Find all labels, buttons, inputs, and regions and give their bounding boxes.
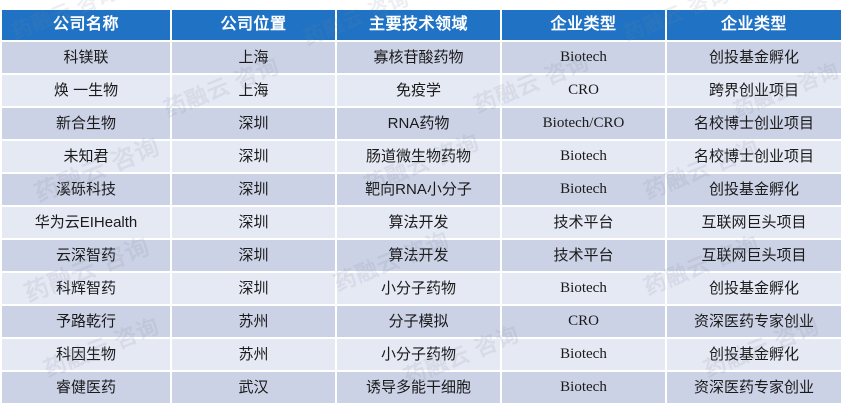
cell-location: 武汉 [172, 372, 335, 403]
cell-location: 深圳 [172, 174, 335, 205]
cell-venture-type: 互联网巨头项目 [667, 207, 841, 238]
cell-company-name: 科镁联 [2, 42, 170, 73]
cell-venture-type: 创投基金孵化 [667, 339, 841, 370]
cell-location: 上海 [172, 75, 335, 106]
cell-tech-field: 靶向RNA小分子 [337, 174, 500, 205]
table-row[interactable]: 未知君深圳肠道微生物药物Biotech名校博士创业项目 [2, 141, 841, 172]
column-header-tech-field[interactable]: 主要技术领域 [337, 10, 500, 40]
cell-company-name: 科辉智药 [2, 273, 170, 304]
column-header-venture-type[interactable]: 企业类型 [667, 10, 841, 40]
cell-company-type: Biotech [502, 141, 665, 172]
table-row[interactable]: 睿健医药武汉诱导多能干细胞Biotech资深医药专家创业 [2, 372, 841, 403]
cell-location: 苏州 [172, 306, 335, 337]
table-header: 公司名称 公司位置 主要技术领域 企业类型 企业类型 [2, 10, 841, 40]
table-row[interactable]: 科镁联上海寡核苷酸药物Biotech创投基金孵化 [2, 42, 841, 73]
cell-company-name: 新合生物 [2, 108, 170, 139]
column-header-company-name[interactable]: 公司名称 [2, 10, 170, 40]
cell-company-type: Biotech/CRO [502, 108, 665, 139]
cell-location: 深圳 [172, 207, 335, 238]
cell-tech-field: 寡核苷酸药物 [337, 42, 500, 73]
cell-company-name: 焕 一生物 [2, 75, 170, 106]
cell-company-type: Biotech [502, 174, 665, 205]
cell-tech-field: 小分子药物 [337, 273, 500, 304]
cell-company-name: 予路乾行 [2, 306, 170, 337]
cell-tech-field: 算法开发 [337, 240, 500, 271]
table-container: 公司名称 公司位置 主要技术领域 企业类型 企业类型 科镁联上海寡核苷酸药物Bi… [0, 0, 841, 405]
cell-tech-field: 诱导多能干细胞 [337, 372, 500, 403]
cell-venture-type: 互联网巨头项目 [667, 240, 841, 271]
cell-tech-field: 免疫学 [337, 75, 500, 106]
cell-location: 深圳 [172, 240, 335, 271]
table-row[interactable]: 华为云EIHealth深圳算法开发技术平台互联网巨头项目 [2, 207, 841, 238]
cell-venture-type: 名校博士创业项目 [667, 141, 841, 172]
cell-company-name: 未知君 [2, 141, 170, 172]
table-body: 科镁联上海寡核苷酸药物Biotech创投基金孵化焕 一生物上海免疫学CRO跨界创… [2, 42, 841, 403]
cell-tech-field: 分子模拟 [337, 306, 500, 337]
cell-location: 深圳 [172, 108, 335, 139]
cell-location: 苏州 [172, 339, 335, 370]
cell-company-type: 技术平台 [502, 240, 665, 271]
cell-venture-type: 资深医药专家创业 [667, 372, 841, 403]
cell-company-name: 溪砾科技 [2, 174, 170, 205]
cell-tech-field: 肠道微生物药物 [337, 141, 500, 172]
cell-venture-type: 名校博士创业项目 [667, 108, 841, 139]
cell-tech-field: RNA药物 [337, 108, 500, 139]
cell-company-type: CRO [502, 75, 665, 106]
cell-company-name: 睿健医药 [2, 372, 170, 403]
cell-tech-field: 小分子药物 [337, 339, 500, 370]
cell-company-type: 技术平台 [502, 207, 665, 238]
cell-location: 深圳 [172, 273, 335, 304]
cell-venture-type: 跨界创业项目 [667, 75, 841, 106]
cell-location: 上海 [172, 42, 335, 73]
cell-tech-field: 算法开发 [337, 207, 500, 238]
column-header-location[interactable]: 公司位置 [172, 10, 335, 40]
cell-venture-type: 创投基金孵化 [667, 42, 841, 73]
cell-company-type: Biotech [502, 273, 665, 304]
table-header-row: 公司名称 公司位置 主要技术领域 企业类型 企业类型 [2, 10, 841, 40]
cell-venture-type: 创投基金孵化 [667, 273, 841, 304]
cell-company-name: 云深智药 [2, 240, 170, 271]
cell-venture-type: 资深医药专家创业 [667, 306, 841, 337]
table-row[interactable]: 溪砾科技深圳靶向RNA小分子Biotech创投基金孵化 [2, 174, 841, 205]
company-table: 公司名称 公司位置 主要技术领域 企业类型 企业类型 科镁联上海寡核苷酸药物Bi… [0, 8, 841, 405]
column-header-company-type[interactable]: 企业类型 [502, 10, 665, 40]
table-row[interactable]: 科因生物苏州小分子药物Biotech创投基金孵化 [2, 339, 841, 370]
table-row[interactable]: 焕 一生物上海免疫学CRO跨界创业项目 [2, 75, 841, 106]
table-row[interactable]: 予路乾行苏州分子模拟CRO资深医药专家创业 [2, 306, 841, 337]
cell-location: 深圳 [172, 141, 335, 172]
table-row[interactable]: 新合生物深圳RNA药物Biotech/CRO名校博士创业项目 [2, 108, 841, 139]
cell-company-type: Biotech [502, 42, 665, 73]
table-row[interactable]: 云深智药深圳算法开发技术平台互联网巨头项目 [2, 240, 841, 271]
cell-company-type: CRO [502, 306, 665, 337]
cell-company-type: Biotech [502, 372, 665, 403]
table-row[interactable]: 科辉智药深圳小分子药物Biotech创投基金孵化 [2, 273, 841, 304]
cell-venture-type: 创投基金孵化 [667, 174, 841, 205]
cell-company-type: Biotech [502, 339, 665, 370]
cell-company-name: 华为云EIHealth [2, 207, 170, 238]
cell-company-name: 科因生物 [2, 339, 170, 370]
